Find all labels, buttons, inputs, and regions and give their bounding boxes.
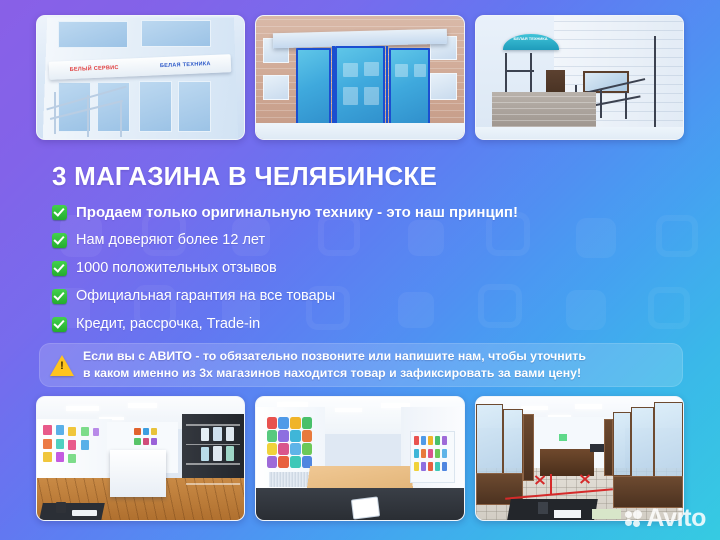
benefit-item: Продаем только оригинальную технику - эт… <box>52 198 652 226</box>
headline: 3 МАГАЗИНА В ЧЕЛЯБИНСКЕ <box>52 161 437 192</box>
check-icon <box>52 289 67 304</box>
check-icon <box>52 261 67 276</box>
check-icon <box>52 205 67 220</box>
warning-triangle-icon <box>50 355 74 376</box>
benefit-item: Официальная гарантия на все товары <box>52 282 652 310</box>
photo-interior-icon-wall-counter[interactable] <box>255 396 464 521</box>
avito-dots-icon <box>625 510 642 527</box>
warning-line-1: Если вы с АВИТО - то обязательно позвони… <box>83 348 586 365</box>
benefit-label: Официальная гарантия на все товары <box>76 289 335 304</box>
sign-text-right: БЕЛАЯ ТЕХНИКА <box>160 61 211 69</box>
photo-storefront-awning-entrance[interactable]: БЕЛАЯ ТЕХНИКА <box>475 15 684 140</box>
benefit-item: 1000 положительных отзывов <box>52 254 652 282</box>
warning-line-2: в каком именно из 3х магазинов находится… <box>83 365 586 382</box>
benefit-item: Кредит, рассрочка, Trade-in <box>52 310 652 338</box>
photo-storefront-white-facade[interactable]: БЕЛЫЙ СЕРВИС БЕЛАЯ ТЕХНИКА <box>36 15 245 140</box>
benefits-list: Продаем только оригинальную технику - эт… <box>52 198 652 338</box>
check-icon <box>52 233 67 248</box>
photo-row-storefronts: БЕЛЫЙ СЕРВИС БЕЛАЯ ТЕХНИКА <box>36 15 684 140</box>
photo-storefront-blue-glass-entrance[interactable] <box>255 15 464 140</box>
photo-row-interiors <box>36 396 684 521</box>
benefit-label: Нам доверяют более 12 лет <box>76 233 265 248</box>
advertisement-canvas: БЕЛЫЙ СЕРВИС БЕЛАЯ ТЕХНИКА <box>0 0 720 540</box>
benefit-label: Продаем только оригинальную технику - эт… <box>76 205 518 220</box>
avito-watermark: Avito <box>625 506 706 531</box>
check-icon <box>52 317 67 332</box>
photo-interior-dark-display-cases[interactable] <box>475 396 684 521</box>
benefit-item: Нам доверяют более 12 лет <box>52 226 652 254</box>
warning-text: Если вы с АВИТО - то обязательно позвони… <box>83 348 586 381</box>
sign-text-left: БЕЛЫЙ СЕРВИС <box>70 65 119 73</box>
warning-banner: Если вы с АВИТО - то обязательно позвони… <box>39 343 683 387</box>
benefit-label: 1000 положительных отзывов <box>76 261 277 276</box>
avito-brand-text: Avito <box>646 506 706 531</box>
benefit-label: Кредит, рассрочка, Trade-in <box>76 317 260 332</box>
photo-interior-wood-floor-counter[interactable] <box>36 396 245 521</box>
awning-sign-text: БЕЛАЯ ТЕХНИКА <box>507 37 555 46</box>
